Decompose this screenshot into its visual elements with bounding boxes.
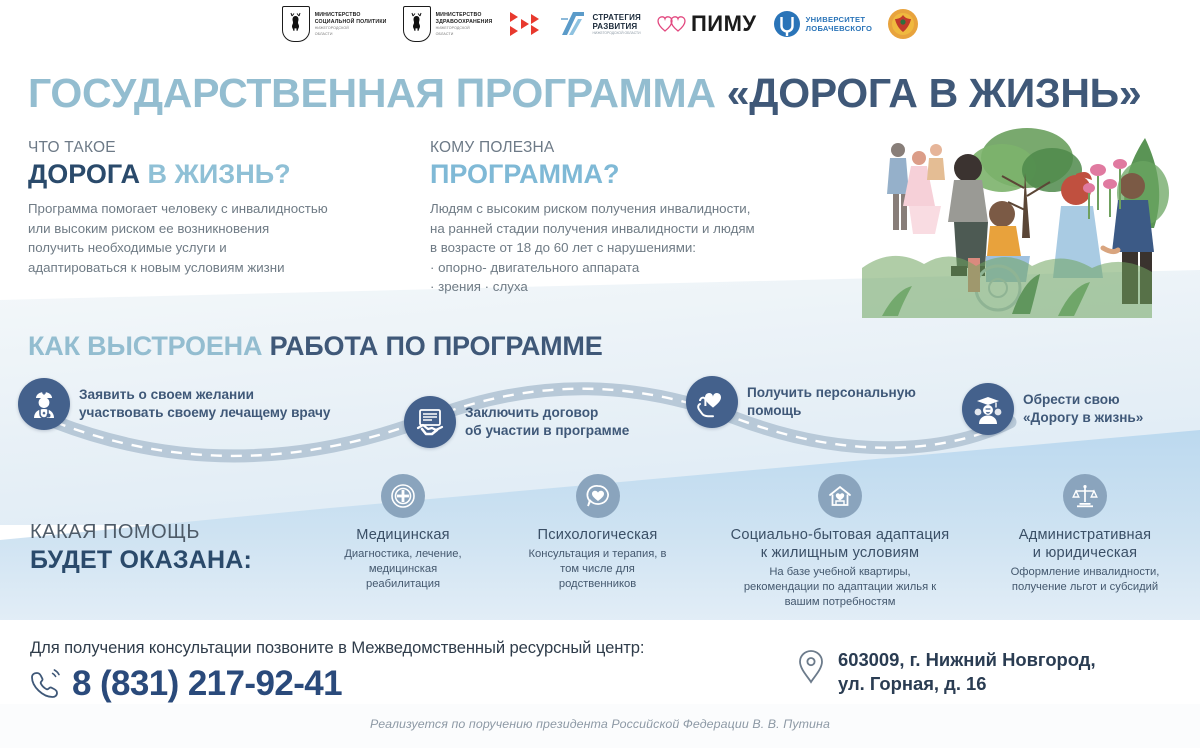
logo-ministry-social-policy: МИНИСТЕРСТВО СОЦИАЛЬНОЙ ПОЛИТИКИ НИЖЕГОР…	[282, 6, 387, 42]
intro-left-headline-light: В ЖИЗНЬ?	[140, 159, 291, 189]
process-step-2[interactable]: Заключить договор об участии в программе	[404, 396, 629, 448]
desc-line: родственников	[505, 577, 690, 592]
process-title-light: КАК ВЫСТРОЕНА	[28, 331, 270, 361]
desc-line: медицинская	[318, 562, 488, 577]
medical-cross-icon	[381, 474, 425, 518]
intro-right-body-line: в возрасте от 18 до 60 лет с нарушениями…	[430, 238, 870, 258]
logo-line-2: ЗДРАВООХРАНЕНИЯ	[436, 19, 493, 25]
intro-left-body: Программа помогает человеку с инвалиднос…	[28, 199, 418, 277]
doctor-icon	[18, 378, 70, 430]
help-card-social-adaptation[interactable]: Социально-бытовая адаптация к жилищным у…	[700, 474, 980, 610]
help-card-psychological-desc: Консультация и терапия, в том числе для …	[505, 547, 690, 592]
desc-line: том числе для	[505, 562, 690, 577]
scales-justice-icon	[1063, 474, 1107, 518]
intro-left-headline: ДОРОГА В ЖИЗНЬ?	[28, 158, 418, 190]
page-title-part-light: ГОСУДАРСТВЕННАЯ ПРОГРАММА	[28, 70, 727, 116]
home-heart-glyph-icon	[826, 482, 854, 510]
intro-left-body-line: или высоким риском ее возникновения	[28, 219, 418, 239]
home-heart-icon	[818, 474, 862, 518]
title-line: и юридическая	[985, 544, 1185, 562]
red-arrows-icon	[508, 10, 542, 38]
footer-phone-block[interactable]: 8 (831) 217-92-41	[28, 664, 342, 704]
strategy-glyph-icon	[558, 9, 588, 39]
medical-cross-glyph-icon	[389, 482, 417, 510]
step-line: Заявить о своем желании	[79, 386, 330, 404]
intro-right-body-line: · зрения · слуха	[430, 277, 870, 297]
logo-line-1: МИНИСТЕРСТВО	[315, 12, 387, 18]
intro-right-body: Людям с высоким риском получения инвалид…	[430, 199, 870, 297]
desc-line: Диагностика, лечение,	[318, 547, 488, 562]
help-section-label: КАКАЯ ПОМОЩЬ БУДЕТ ОКАЗАНА:	[30, 520, 252, 576]
help-card-legal-desc: Оформление инвалидности, получение льгот…	[985, 565, 1185, 595]
doctor-glyph-icon	[27, 387, 61, 421]
step-line: участвовать своему лечащему врачу	[79, 404, 330, 422]
intro-left-kicker: ЧТО ТАКОЕ	[28, 138, 418, 157]
help-card-psychological[interactable]: Психологическая Консультация и терапия, …	[505, 474, 690, 592]
strategy-line-3: НИЖЕГОРОДСКОЙ ОБЛАСТИ	[592, 31, 641, 36]
help-card-administrative-legal[interactable]: Административная и юридическая Оформлени…	[985, 474, 1185, 595]
logo-strategy-development: СТРАТЕГИЯ РАЗВИТИЯ НИЖЕГОРОДСКОЙ ОБЛАСТИ	[558, 9, 641, 39]
help-card-social-title: Социально-бытовая адаптация к жилищным у…	[700, 526, 980, 562]
logo-line-2: СОЦИАЛЬНОЙ ПОЛИТИКИ	[315, 19, 387, 25]
strategy-text-block: СТРАТЕГИЯ РАЗВИТИЯ НИЖЕГОРОДСКОЙ ОБЛАСТИ	[592, 13, 641, 36]
logo-line-4: ОБЛАСТИ	[436, 32, 493, 36]
help-card-social-desc: На базе учебной квартиры, рекомендации п…	[700, 565, 980, 610]
lobachevsky-line-1: УНИВЕРСИТЕТ	[806, 15, 873, 24]
step-line: об участии в программе	[465, 422, 629, 440]
desc-line: рекомендации по адаптации жилья к	[700, 580, 980, 595]
chat-heart-icon	[576, 474, 620, 518]
title-line: к жилищным условиям	[700, 544, 980, 562]
intro-left-headline-dark: ДОРОГА	[28, 159, 140, 189]
strategy-line-1: СТРАТЕГИЯ	[592, 13, 641, 22]
logo-ministry-health: МИНИСТЕРСТВО ЗДРАВООХРАНЕНИЯ НИЖЕГОРОДСК…	[403, 6, 493, 42]
process-step-4[interactable]: Обрести свою «Дорогу в жизнь»	[962, 383, 1143, 435]
logo-line-4: ОБЛАСТИ	[315, 32, 387, 36]
logo-line-1: МИНИСТЕРСТВО	[436, 12, 493, 18]
page-title: ГОСУДАРСТВЕННАЯ ПРОГРАММА «ДОРОГА В ЖИЗН…	[28, 70, 1178, 116]
footer-address-block: 603009, г. Нижний Новгород, ул. Горная, …	[796, 648, 1096, 696]
intro-right-body-line: на ранней стадии получения инвалидности …	[430, 219, 870, 239]
step-line: «Дорогу в жизнь»	[1023, 409, 1143, 427]
logo-lobachevsky-university: УНИВЕРСИТЕТ ЛОБАЧЕВСКОГО	[773, 10, 873, 38]
step-line: помощь	[747, 402, 916, 420]
process-title-dark: РАБОТА ПО ПРОГРАММЕ	[270, 331, 603, 361]
logo-text-block: МИНИСТЕРСТВО СОЦИАЛЬНОЙ ПОЛИТИКИ НИЖЕГОР…	[315, 12, 387, 36]
partner-logo-bar: МИНИСТЕРСТВО СОЦИАЛЬНОЙ ПОЛИТИКИ НИЖЕГОР…	[0, 0, 1200, 48]
logo-line-3: НИЖЕГОРОДСКОЙ	[315, 26, 387, 30]
deer-glyph-icon	[287, 12, 305, 36]
logo-text-block: МИНИСТЕРСТВО ЗДРАВООХРАНЕНИЯ НИЖЕГОРОДСК…	[436, 12, 493, 36]
intro-right-kicker: КОМУ ПОЛЕЗНА	[430, 138, 870, 157]
process-step-1-label: Заявить о своем желании участвовать свое…	[79, 386, 330, 422]
handshake-glyph-icon	[413, 405, 447, 439]
title-line: Социально-бытовая адаптация	[700, 526, 980, 544]
lobachevsky-text-block: УНИВЕРСИТЕТ ЛОБАЧЕВСКОГО	[806, 15, 873, 33]
help-card-medical-desc: Диагностика, лечение, медицинская реабил…	[318, 547, 488, 592]
step-line: Заключить договор	[465, 404, 629, 422]
desc-line: Оформление инвалидности,	[985, 565, 1185, 580]
help-label-bold: БУДЕТ ОКАЗАНА:	[30, 545, 252, 576]
park-people-illustration	[862, 118, 1192, 318]
lobachevsky-line-2: ЛОБАЧЕВСКОГО	[806, 24, 873, 33]
footer-disclaimer: Реализуется по поручению президента Росс…	[0, 717, 1200, 731]
help-card-legal-title: Административная и юридическая	[985, 526, 1185, 562]
scales-glyph-icon	[1071, 482, 1099, 510]
handshake-contract-icon	[404, 396, 456, 448]
intro-left-body-line: Программа помогает человеку с инвалиднос…	[28, 199, 418, 219]
intro-right-headline: ПРОГРАММА?	[430, 158, 870, 190]
address-line: 603009, г. Нижний Новгород,	[838, 648, 1096, 672]
graduate-person-icon	[962, 383, 1014, 435]
hand-heart-glyph-icon	[695, 385, 729, 419]
process-step-3-label: Получить персональную помощь	[747, 384, 916, 420]
intro-block-who-benefits: КОМУ ПОЛЕЗНА ПРОГРАММА? Людям с высоким …	[430, 138, 870, 297]
help-card-medical[interactable]: Медицинская Диагностика, лечение, медици…	[318, 474, 488, 592]
footer-address-text: 603009, г. Нижний Новгород, ул. Горная, …	[838, 648, 1096, 696]
logo-red-arrows	[508, 10, 542, 38]
desc-line: реабилитация	[318, 577, 488, 592]
help-label-kicker: КАКАЯ ПОМОЩЬ	[30, 520, 252, 545]
logo-pimu: ПИМУ	[657, 11, 757, 37]
nizhny-novgorod-deer-crest-icon	[403, 6, 431, 42]
round-emblem-icon	[891, 12, 915, 36]
help-card-medical-title: Медицинская	[318, 526, 488, 544]
logo-emblem-round	[888, 9, 918, 39]
intro-left-body-line: адаптироваться к новым условиям жизни	[28, 258, 418, 278]
strategy-line-2: РАЗВИТИЯ	[592, 22, 641, 31]
logo-line-3: НИЖЕГОРОДСКОЙ	[436, 26, 493, 30]
phone-icon	[28, 667, 62, 701]
unn-circle-icon	[773, 10, 801, 38]
step-line: Получить персональную	[747, 384, 916, 402]
intro-left-body-line: получить необходимые услуги и	[28, 238, 418, 258]
desc-line: получение льгот и субсидий	[985, 580, 1185, 595]
nizhny-novgorod-deer-crest-icon	[282, 6, 310, 42]
desc-line: Консультация и терапия, в	[505, 547, 690, 562]
strategy-mark-icon	[558, 9, 588, 39]
intro-block-what-is: ЧТО ТАКОЕ ДОРОГА В ЖИЗНЬ? Программа помо…	[28, 138, 418, 277]
intro-right-body-line: Людям с высоким риском получения инвалид…	[430, 199, 870, 219]
footer-lead-text: Для получения консультации позвоните в М…	[30, 638, 644, 658]
process-section-title: КАК ВЫСТРОЕНА РАБОТА ПО ПРОГРАММЕ	[28, 331, 603, 362]
intro-right-body-line: · опорно- двигательного аппарата	[430, 258, 870, 278]
map-pin-icon	[796, 648, 826, 686]
desc-line: вашим потребностям	[700, 595, 980, 610]
page-title-part-dark: «ДОРОГА В ЖИЗНЬ»	[727, 70, 1142, 116]
process-step-1[interactable]: Заявить о своем желании участвовать свое…	[18, 378, 330, 430]
deer-glyph-icon	[408, 12, 426, 36]
title-line: Административная	[985, 526, 1185, 544]
desc-line: На базе учебной квартиры,	[700, 565, 980, 580]
footer-phone-number: 8 (831) 217-92-41	[72, 664, 342, 704]
graduate-glyph-icon	[971, 392, 1005, 426]
process-step-2-label: Заключить договор об участии в программе	[465, 404, 629, 440]
help-card-psychological-title: Психологическая	[505, 526, 690, 544]
address-line: ул. Горная, д. 16	[838, 672, 1096, 696]
pimu-wordmark: ПИМУ	[691, 11, 757, 37]
step-line: Обрести свою	[1023, 391, 1143, 409]
hand-heart-icon	[686, 376, 738, 428]
process-step-3[interactable]: Получить персональную помощь	[686, 376, 916, 428]
infographic-poster: МИНИСТЕРСТВО СОЦИАЛЬНОЙ ПОЛИТИКИ НИЖЕГОР…	[0, 0, 1200, 748]
pimu-hearts-icon	[657, 11, 687, 37]
chat-heart-glyph-icon	[584, 482, 612, 510]
process-step-4-label: Обрести свою «Дорогу в жизнь»	[1023, 391, 1143, 427]
illustration-svg	[862, 118, 1192, 318]
